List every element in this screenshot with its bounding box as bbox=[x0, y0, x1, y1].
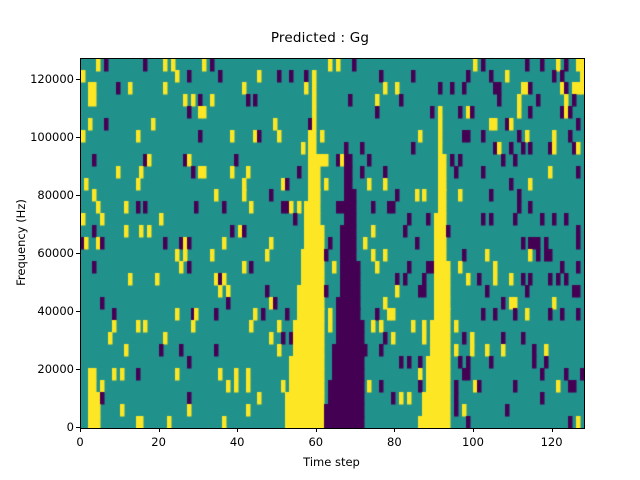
x-tick-mark bbox=[80, 428, 81, 432]
x-tick-label: 60 bbox=[308, 435, 323, 449]
x-axis-label: Time step bbox=[80, 455, 583, 469]
y-tick-mark bbox=[76, 137, 80, 138]
y-axis-label: Frequency (Hz) bbox=[14, 58, 28, 427]
matplotlib-figure: Predicted : Gg 0200004000060000800001000… bbox=[0, 0, 640, 480]
x-tick-mark bbox=[237, 428, 238, 432]
x-tick-mark bbox=[316, 428, 317, 432]
y-tick-label: 40000 bbox=[37, 304, 74, 318]
y-tick-mark bbox=[76, 311, 80, 312]
x-tick-label: 80 bbox=[387, 435, 402, 449]
x-tick-mark bbox=[552, 428, 553, 432]
heatmap-axes bbox=[80, 58, 585, 429]
y-tick-label: 100000 bbox=[30, 130, 74, 144]
x-tick-label: 20 bbox=[151, 435, 166, 449]
y-tick-mark bbox=[76, 369, 80, 370]
x-tick-mark bbox=[473, 428, 474, 432]
x-tick-mark bbox=[394, 428, 395, 432]
x-tick-mark bbox=[159, 428, 160, 432]
x-tick-label: 100 bbox=[462, 435, 484, 449]
y-tick-mark bbox=[76, 195, 80, 196]
x-tick-label: 120 bbox=[541, 435, 563, 449]
y-tick-label: 80000 bbox=[37, 188, 74, 202]
x-tick-label: 40 bbox=[230, 435, 245, 449]
heatmap-image bbox=[81, 59, 584, 428]
y-tick-mark bbox=[76, 253, 80, 254]
chart-title: Predicted : Gg bbox=[0, 30, 640, 46]
y-tick-mark bbox=[76, 79, 80, 80]
y-tick-label: 120000 bbox=[30, 72, 74, 86]
x-tick-label: 0 bbox=[76, 435, 83, 449]
y-tick-label: 0 bbox=[67, 420, 74, 434]
y-tick-label: 60000 bbox=[37, 246, 74, 260]
y-tick-label: 20000 bbox=[37, 362, 74, 376]
